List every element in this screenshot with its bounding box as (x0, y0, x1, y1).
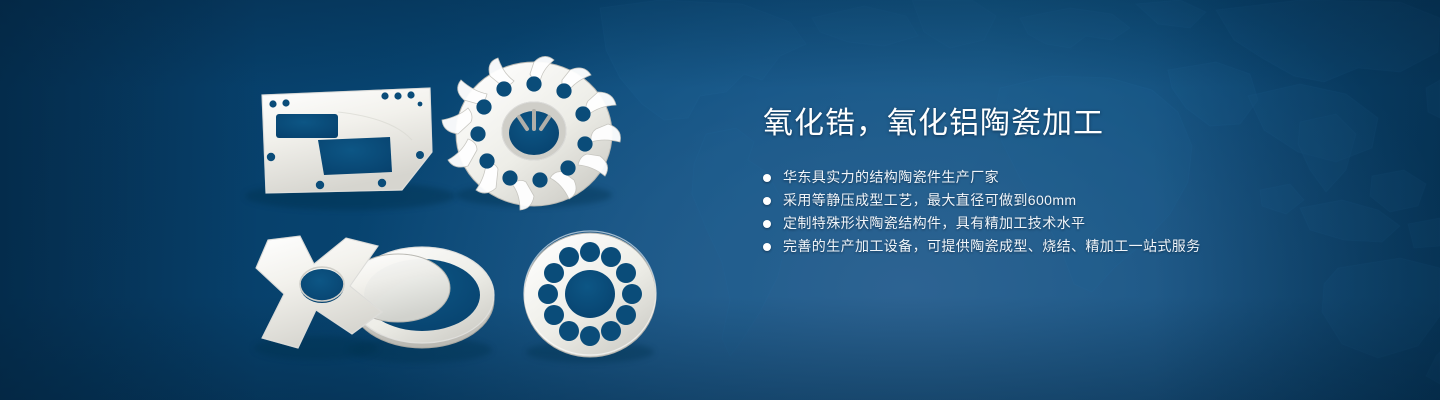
list-item: 定制特殊形状陶瓷结构件，具有精加工技术水平 (763, 212, 1323, 235)
bullet-dot-icon (763, 197, 771, 205)
feature-list: 华东具实力的结构陶瓷件生产厂家 采用等静压成型工艺，最大直径可做到600mm 定… (763, 166, 1323, 258)
ceramic-valve-plate (524, 231, 656, 363)
feature-text: 华东具实力的结构陶瓷件生产厂家 (783, 166, 999, 189)
product-photo-cluster (0, 0, 720, 400)
ceramic-cross-part (254, 236, 382, 360)
bullet-dot-icon (763, 243, 771, 251)
bullet-dot-icon (763, 220, 771, 228)
bullet-dot-icon (763, 174, 771, 182)
list-item: 完善的生产加工设备，可提供陶瓷成型、烧结、精加工一站式服务 (763, 235, 1323, 258)
hero-banner: 氧化锆，氧化铝陶瓷加工 华东具实力的结构陶瓷件生产厂家 采用等静压成型工艺，最大… (0, 0, 1440, 400)
page-title: 氧化锆，氧化铝陶瓷加工 (763, 104, 1323, 144)
banner-copy: 氧化锆，氧化铝陶瓷加工 华东具实力的结构陶瓷件生产厂家 采用等静压成型工艺，最大… (763, 104, 1323, 258)
ceramic-machined-plate (245, 88, 455, 210)
ceramic-impeller-disc (442, 56, 621, 210)
list-item: 华东具实力的结构陶瓷件生产厂家 (763, 166, 1323, 189)
feature-text: 完善的生产加工设备，可提供陶瓷成型、烧结、精加工一站式服务 (783, 235, 1201, 258)
feature-text: 采用等静压成型工艺，最大直径可做到600mm (783, 189, 1076, 212)
list-item: 采用等静压成型工艺，最大直径可做到600mm (763, 189, 1323, 212)
feature-text: 定制特殊形状陶瓷结构件，具有精加工技术水平 (783, 212, 1085, 235)
